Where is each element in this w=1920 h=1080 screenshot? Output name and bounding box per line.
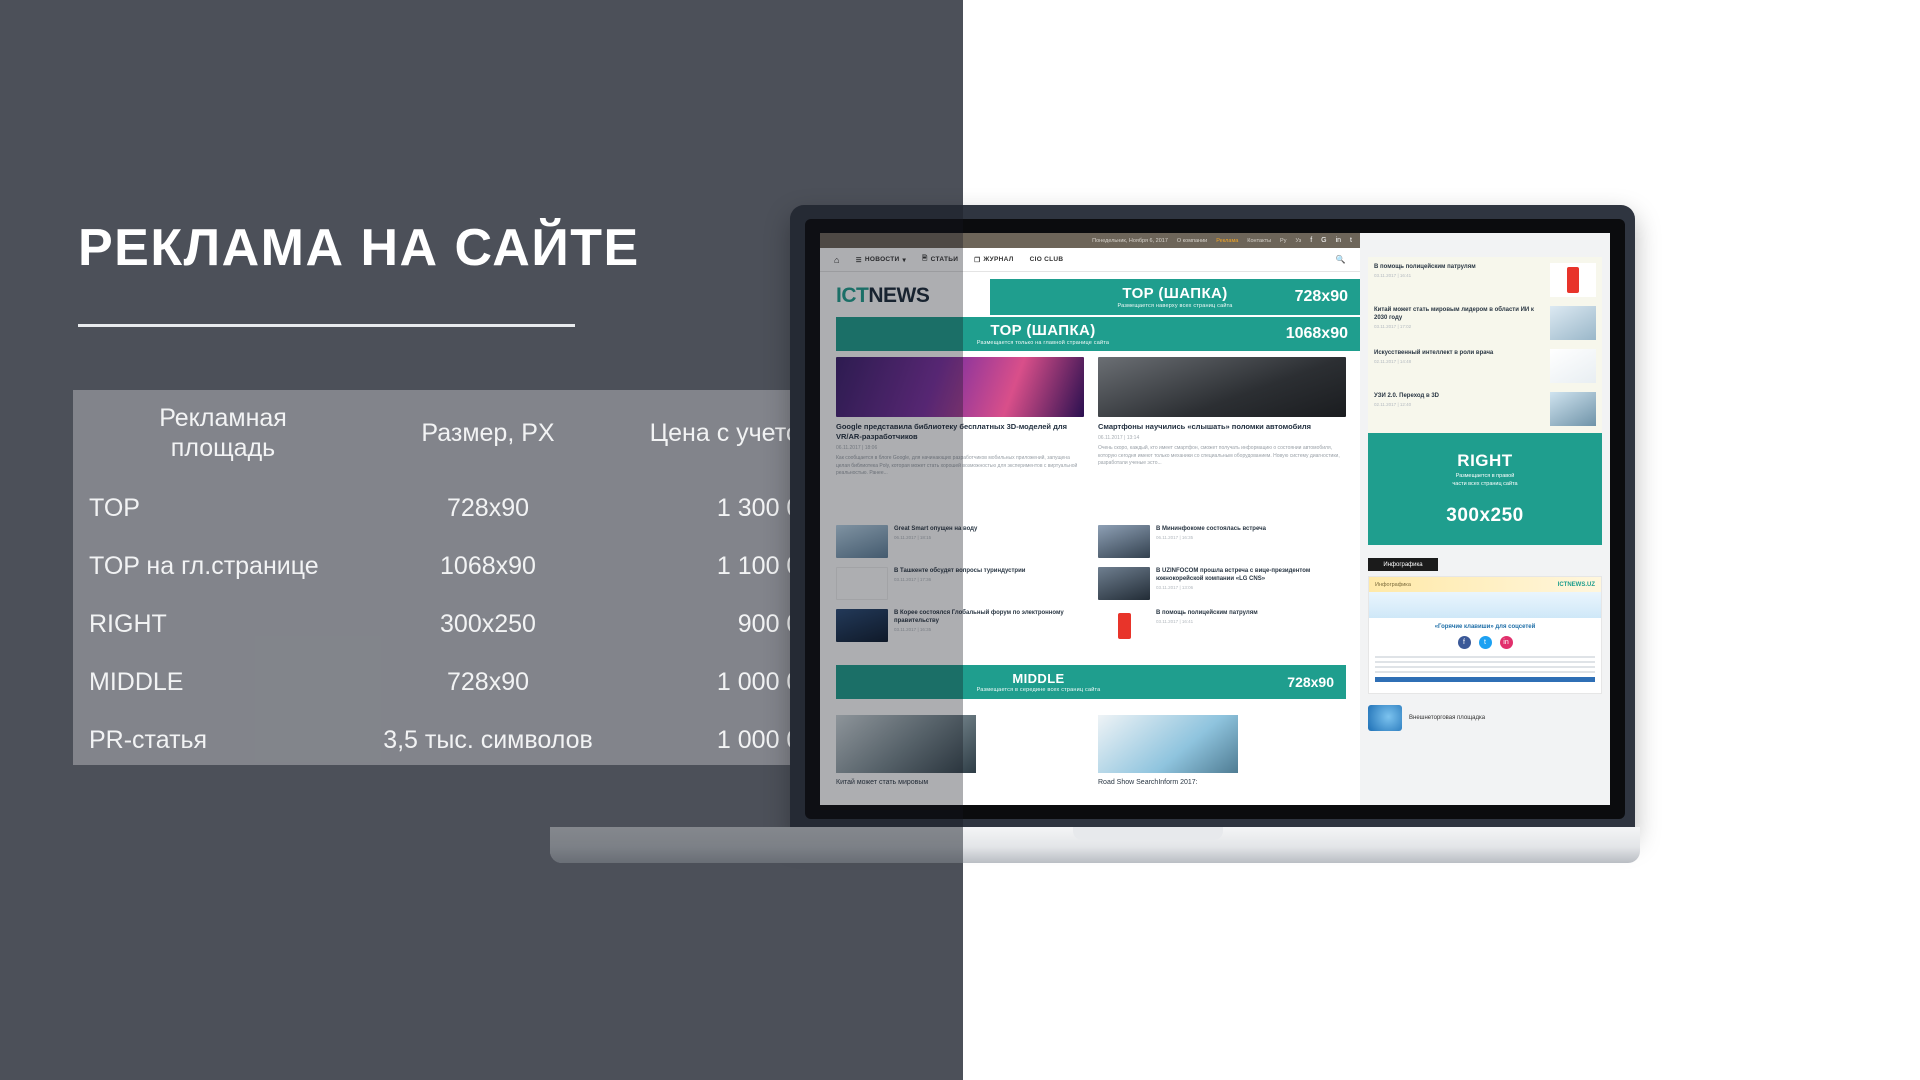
list-item-date: 03.11.2017 | 13:06 [1156, 585, 1346, 590]
article-date: 06.11.2017 | 18:06 [836, 445, 1084, 451]
list-item-thumbnail [1098, 525, 1150, 558]
google-icon[interactable]: G [1321, 237, 1326, 244]
list-item-title: Китай может стать мировым лидером в обла… [1374, 306, 1544, 322]
logo-part-news: NEWS [868, 284, 929, 307]
list-item-thumbnail [1098, 609, 1150, 642]
article-thumbnail [836, 357, 1084, 417]
list-item-thumbnail [1550, 263, 1596, 297]
nav-item-magazine-label: ЖУРНАЛ [983, 256, 1013, 263]
laptop-mockup: Понедельник, Ноября 6, 2017 О компании Р… [660, 205, 1635, 865]
article-card[interactable]: Китай может стать мировым [836, 715, 1084, 787]
laptop-screen: Понедельник, Ноября 6, 2017 О компании Р… [820, 233, 1610, 805]
infographic-text-lines [1375, 656, 1595, 673]
ad-banner-right-subtitle: Размещается в правой части всех страниц … [1368, 473, 1602, 489]
article-excerpt: Как сообщается в блоге Google, для начин… [836, 455, 1084, 478]
cell-size: 3,5 тыс. символов [373, 711, 603, 769]
site-main-column: Понедельник, Ноября 6, 2017 О компании Р… [820, 233, 1360, 805]
list-item-thumbnail [836, 609, 888, 642]
copy-icon: ❐ [974, 256, 980, 264]
list-item-title: Искусственный интеллект в роли врача [1374, 349, 1544, 357]
search-icon[interactable]: 🔍 [1336, 255, 1346, 264]
cell-name: RIGHT [73, 595, 373, 653]
list-item-text: В Мининфокоме состоялась встреча 06.11.2… [1156, 525, 1346, 558]
article-title: Road Show SearchInform 2017: [1098, 778, 1346, 787]
infographic-card-header: Инфографика ICTNEWS.UZ [1369, 577, 1601, 592]
cell-size: 1068x90 [373, 537, 603, 595]
ad-banner-top[interactable]: TOP (ШАПКА) Размещается наверху всех стр… [990, 279, 1360, 315]
list-item[interactable]: Китай может стать мировым лидером в обла… [1374, 306, 1596, 340]
list-item-text: Great Smart опущен на воду 06.11.2017 | … [894, 525, 1084, 558]
list-item-date: 03.11.2017 | 16:41 [1156, 619, 1346, 624]
list-item-text: В помощь полицейским патрулям 03.11.2017… [1374, 263, 1544, 297]
infographic-footer-bar [1375, 677, 1595, 682]
list-item-title: В Корее состоялся Глобальный форум по эл… [894, 609, 1084, 625]
list-item[interactable]: В помощь полицейским патрулям 03.11.2017… [1374, 263, 1596, 297]
topbar-link-about[interactable]: О компании [1177, 238, 1207, 244]
article-list: Great Smart опущен на воду 06.11.2017 | … [836, 525, 1346, 642]
sidebar-footer-item[interactable]: Внешнеторговая площадка [1368, 705, 1602, 731]
cell-name: TOP на гл.странице [73, 537, 373, 595]
list-item-date: 03.11.2017 | 16:35 [894, 627, 1084, 632]
cell-name: PR-статья [73, 711, 373, 769]
phone-icon [1567, 267, 1579, 293]
site-sidebar: В помощь полицейским патрулям 03.11.2017… [1360, 233, 1610, 805]
facebook-icon[interactable]: f [1458, 636, 1471, 649]
list-item-date: 03.11.2017 | 17:36 [894, 577, 1084, 582]
list-item[interactable]: В UZINFOCOM прошла встреча с вице-презид… [1098, 567, 1346, 600]
cell-name: MIDDLE [73, 653, 373, 711]
title-divider [78, 324, 575, 327]
ad-banner-middle[interactable]: MIDDLE Размещается в середине всех стран… [836, 665, 1346, 699]
twitter-icon[interactable]: t [1350, 237, 1352, 244]
ad-banner-right-size: 300x250 [1368, 505, 1602, 527]
list-item-text: В помощь полицейским патрулям 03.11.2017… [1156, 609, 1346, 642]
list-item-date: 06.11.2017 | 16:35 [1156, 535, 1346, 540]
list-item-thumbnail [1550, 306, 1596, 340]
chevron-down-icon: ▾ [903, 256, 907, 264]
ad-banner-middle-subtitle: Размещается в середине всех страниц сайт… [820, 687, 1346, 693]
column-header-name: Рекламная площадь [73, 390, 373, 479]
list-item-title: В помощь полицейским патрулям [1156, 609, 1346, 617]
featured-articles: Google представила библиотеку бесплатных… [836, 357, 1346, 478]
article-list-column-right: В Мининфокоме состоялась встреча 06.11.2… [1098, 525, 1346, 642]
list-item-text: Искусственный интеллект в роли врача 02.… [1374, 349, 1544, 383]
website-ictnews: Понедельник, Ноября 6, 2017 О компании Р… [820, 233, 1610, 805]
twitter-icon[interactable]: t [1479, 636, 1492, 649]
article-title: Смартфоны научились «слышать» поломки ав… [1098, 422, 1346, 432]
topbar-lang-uz[interactable]: Уз [1295, 238, 1301, 244]
list-item-text: В Ташкенте обсудят вопросы туриндустрии … [894, 567, 1084, 600]
article-date: 06.11.2017 | 13:14 [1098, 435, 1346, 441]
sidebar-section-label: Инфографика [1368, 558, 1438, 571]
ad-banner-top-home[interactable]: TOP (ШАПКА) Размещается только на главно… [836, 317, 1360, 351]
nav-item-articles[interactable]: 🖹 СТАТЬИ [922, 254, 958, 265]
ad-banner-right-title: RIGHT [1368, 451, 1602, 471]
ad-banner-top-home-subtitle: Размещается только на главной странице с… [820, 340, 1360, 346]
topbar-link-contacts[interactable]: Контакты [1247, 238, 1271, 244]
list-item-date: 06.11.2017 | 18:15 [894, 535, 1084, 540]
topbar-link-advertising[interactable]: Реклама [1216, 238, 1238, 244]
hamburger-icon: ☰ [856, 256, 862, 264]
list-item-title: В Мининфокоме состоялась встреча [1156, 525, 1346, 533]
infographic-brand-left: Инфографика [1375, 582, 1411, 588]
list-item-date: 02.11.2017 | 12:40 [1374, 402, 1544, 407]
site-navbar: ⌂ ☰ НОВОСТИ ▾ 🖹 СТАТЬИ ❐ ЖУРНАЛ [820, 248, 1360, 272]
infographic-brand-right: ICTNEWS.UZ [1558, 582, 1595, 588]
list-item[interactable]: УЗИ 2.0. Переход в 3D 02.11.2017 | 12:40 [1374, 392, 1596, 426]
list-item-title: УЗИ 2.0. Переход в 3D [1374, 392, 1544, 400]
article-card[interactable]: Google представила библиотеку бесплатных… [836, 357, 1084, 478]
ad-banner-middle-title: MIDDLE [820, 671, 1346, 686]
infographic-title: «Горячие клавиши» для соцсетей [1369, 624, 1601, 630]
list-item[interactable]: Great Smart опущен на воду 06.11.2017 | … [836, 525, 1084, 558]
list-item-date: 03.11.2017 | 17:02 [1374, 324, 1544, 329]
column-header-name-line2: площадь [73, 434, 373, 464]
list-item-thumbnail [1550, 349, 1596, 383]
list-item-date: 03.11.2017 | 16:41 [1374, 273, 1544, 278]
list-item-thumbnail [1098, 567, 1150, 600]
list-item-title: В Ташкенте обсудят вопросы туриндустрии [894, 567, 1084, 575]
phone-icon [1118, 613, 1131, 639]
sidebar-footer-title: Внешнеторговая площадка [1409, 715, 1485, 721]
list-item-text: УЗИ 2.0. Переход в 3D 02.11.2017 | 12:40 [1374, 392, 1544, 426]
document-icon: 🖹 [922, 254, 928, 265]
globe-icon [1368, 705, 1402, 731]
list-item-thumbnail [1550, 392, 1596, 426]
list-item-thumbnail [836, 525, 888, 558]
nav-item-articles-label: СТАТЬИ [931, 256, 959, 263]
topbar-date: Понедельник, Ноября 6, 2017 [1092, 238, 1168, 244]
logo-part-ict: ICT [836, 284, 868, 307]
list-item-date: 02.11.2017 | 14:48 [1374, 359, 1544, 364]
slide-root: РЕКЛАМА НА САЙТЕ Рекламная площадь Разме… [0, 0, 1920, 1080]
article-card[interactable]: Road Show SearchInform 2017: [1098, 715, 1346, 787]
infographic-card[interactable]: Инфографика ICTNEWS.UZ «Горячие клавиши»… [1368, 576, 1602, 694]
article-excerpt: Очень скоро, каждый, кто имеет смартфон,… [1098, 445, 1346, 468]
ad-banner-top-size: 728x90 [1295, 288, 1348, 306]
cell-size: 300x250 [373, 595, 603, 653]
list-item-title: В помощь полицейским патрулям [1374, 263, 1544, 271]
linkedin-icon[interactable]: in [1500, 636, 1513, 649]
ad-banner-top-home-title: TOP (ШАПКА) [820, 322, 1360, 339]
ad-banner-right-subtitle-line2: части всех страниц сайта [1368, 481, 1602, 489]
sidebar-news-list: В помощь полицейским патрулям 03.11.2017… [1368, 257, 1602, 441]
infographic-social-row: f t in [1369, 636, 1601, 649]
topbar-lang-ru[interactable]: Ру [1280, 238, 1286, 244]
site-topbar: Понедельник, Ноября 6, 2017 О компании Р… [820, 233, 1360, 248]
article-title: Google представила библиотеку бесплатных… [836, 422, 1084, 442]
list-item-text: В UZINFOCOM прошла встреча с вице-презид… [1156, 567, 1346, 600]
nav-item-cio-club-label: CIO CLUB [1030, 256, 1064, 263]
list-item-title: Great Smart опущен на воду [894, 525, 1084, 533]
nav-item-cio-club[interactable]: CIO CLUB [1030, 256, 1064, 263]
nav-item-magazine[interactable]: ❐ ЖУРНАЛ [974, 256, 1013, 264]
article-card[interactable]: Смартфоны научились «слышать» поломки ав… [1098, 357, 1346, 478]
column-header-name-line1: Рекламная [73, 404, 373, 434]
list-item[interactable]: В Мининфокоме состоялась встреча 06.11.2… [1098, 525, 1346, 558]
list-item-text: Китай может стать мировым лидером в обла… [1374, 306, 1544, 340]
list-item-thumbnail [836, 567, 888, 600]
ad-banner-right-subtitle-line1: Размещается в правой [1368, 473, 1602, 481]
list-item[interactable]: В помощь полицейским патрулям 03.11.2017… [1098, 609, 1346, 642]
list-item-title: В UZINFOCOM прошла встреча с вице-презид… [1156, 567, 1346, 583]
list-item[interactable]: В Ташкенте обсудят вопросы туриндустрии … [836, 567, 1084, 600]
list-item[interactable]: Искусственный интеллект в роли врача 02.… [1374, 349, 1596, 383]
text-line [1375, 666, 1595, 668]
list-item-text: В Корее состоялся Глобальный форум по эл… [894, 609, 1084, 642]
article-thumbnail [1098, 715, 1238, 773]
ad-banner-top-home-text: TOP (ШАПКА) Размещается только на главно… [820, 322, 1360, 346]
article-thumbnail [1098, 357, 1346, 417]
cell-name: TOP [73, 479, 373, 537]
ad-banner-top-home-size: 1068x90 [1286, 325, 1348, 343]
bottom-articles: Китай может стать мировым Road Show Sear… [836, 715, 1346, 787]
article-title: Китай может стать мировым [836, 778, 1084, 787]
article-list-column-left: Great Smart опущен на воду 06.11.2017 | … [836, 525, 1084, 642]
cell-size: 728x90 [373, 479, 603, 537]
linkedin-icon[interactable]: in [1336, 237, 1341, 244]
home-icon[interactable]: ⌂ [834, 255, 840, 265]
text-line [1375, 656, 1595, 658]
laptop-base-notch [1073, 827, 1223, 840]
nav-item-news-label: НОВОСТИ [865, 256, 900, 263]
ad-banner-middle-size: 728x90 [1287, 674, 1334, 690]
site-logo[interactable]: ICTNEWS [836, 284, 929, 308]
ad-banner-right[interactable]: RIGHT Размещается в правой части всех ст… [1368, 433, 1602, 545]
facebook-icon[interactable]: f [1310, 237, 1312, 244]
nav-item-news[interactable]: ☰ НОВОСТИ ▾ [856, 256, 906, 264]
text-line [1375, 661, 1595, 663]
page-title: РЕКЛАМА НА САЙТЕ [78, 222, 640, 274]
column-header-size: Размер, PX [373, 390, 603, 479]
ad-banner-middle-text: MIDDLE Размещается в середине всех стран… [820, 671, 1346, 693]
cell-size: 728x90 [373, 653, 603, 711]
text-line [1375, 671, 1595, 673]
infographic-wave-graphic [1369, 592, 1601, 618]
list-item[interactable]: В Корее состоялся Глобальный форум по эл… [836, 609, 1084, 642]
article-thumbnail [836, 715, 976, 773]
